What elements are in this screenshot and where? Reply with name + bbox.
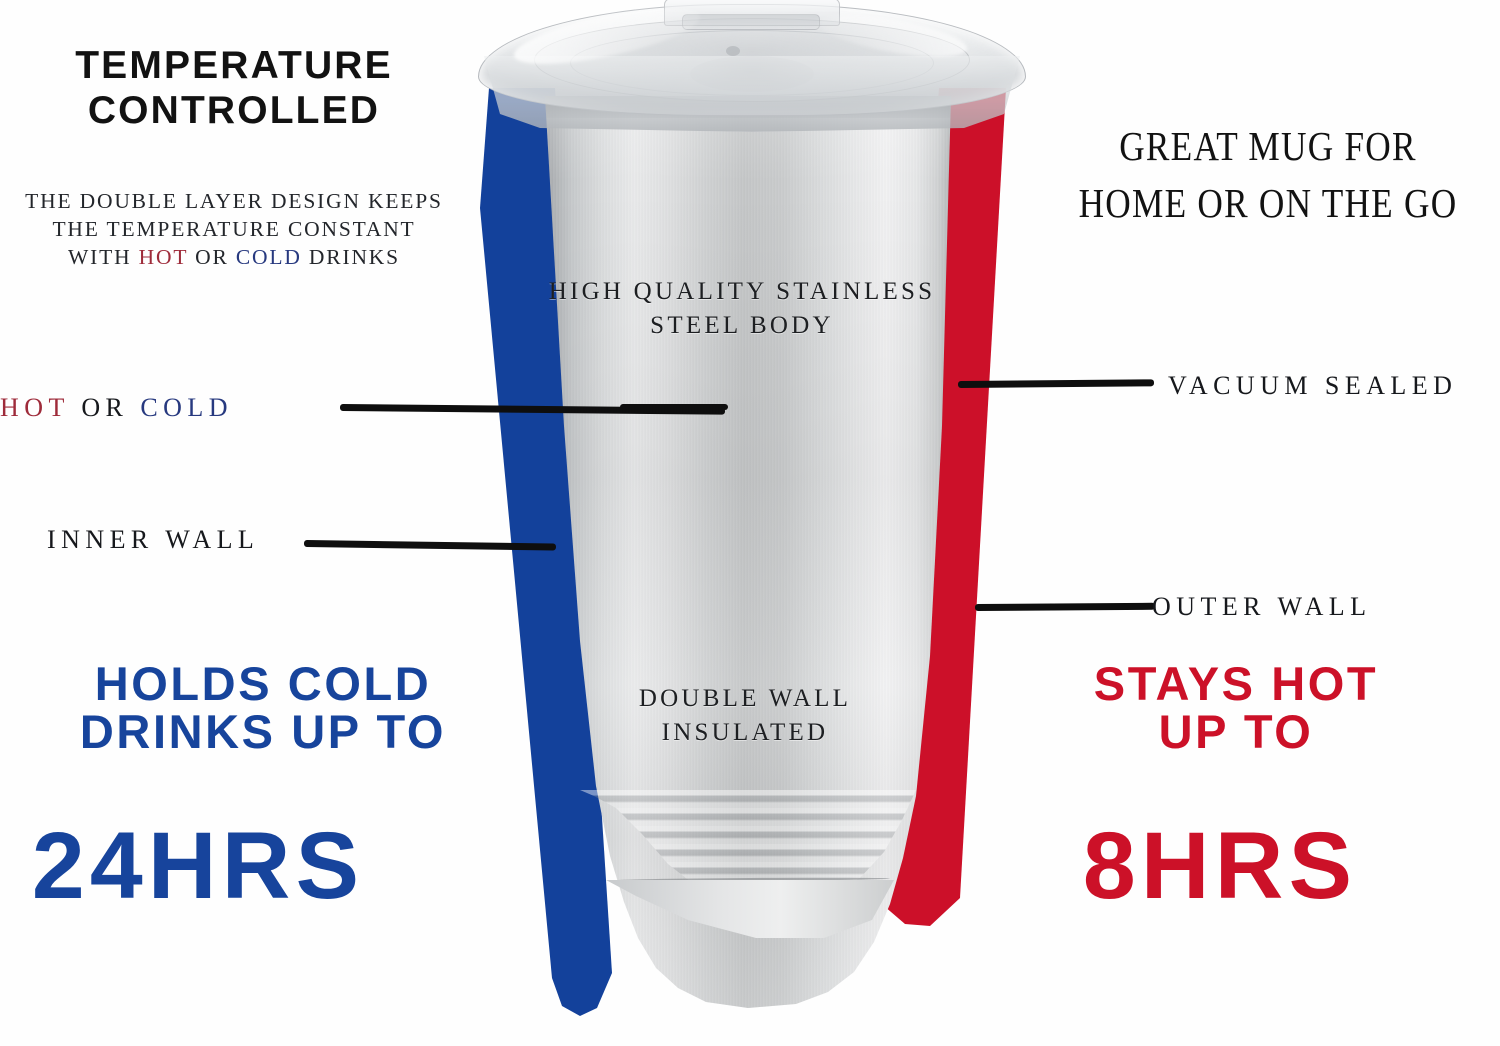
lid-vent-bump — [726, 46, 740, 56]
engraved-double-wall-label: DOUBLE WALL INSULATED — [560, 682, 930, 749]
callout-label-vacuum-sealed: VACUUM SEALED — [1168, 371, 1457, 401]
engraved-stainless-steel-label: HIGH QUALITY STAINLESS STEEL BODY — [532, 275, 952, 342]
callout-joiner: OR — [69, 393, 140, 422]
callout-stub-stainless-body — [620, 404, 728, 410]
description-cold-word: COLD — [236, 245, 302, 269]
right-heading-great-mug: GREAT MUG FOR HOME OR ON THE GO — [1068, 118, 1467, 233]
lid-drink-slot — [682, 14, 820, 30]
callout-line-vacuum-sealed — [958, 379, 1154, 388]
description-line-2: THE TEMPERATURE CONSTANT — [0, 216, 468, 244]
description-hot-word: HOT — [139, 245, 188, 269]
hot-headline-line-1: STAYS HOT — [1010, 660, 1462, 708]
callout-label-inner-wall: INNER WALL — [47, 525, 259, 555]
callout-label-outer-wall: OUTER WALL — [1152, 592, 1372, 622]
right-heading-line-2: HOME OR ON THE GO — [1068, 175, 1467, 232]
engraved-steel-line-1: HIGH QUALITY STAINLESS — [532, 275, 952, 309]
description-line-3-post: DRINKS — [302, 245, 400, 269]
hot-retention-headline: STAYS HOT UP TO — [1010, 660, 1462, 756]
hot-retention-value: 8HRS — [1050, 818, 1390, 915]
description-line-3: WITH HOT OR COLD DRINKS — [0, 244, 468, 272]
cold-headline-line-1: HOLDS COLD — [18, 660, 508, 708]
description-line-1: THE DOUBLE LAYER DESIGN KEEPS — [0, 188, 468, 216]
left-description-block: THE DOUBLE LAYER DESIGN KEEPS THE TEMPER… — [0, 188, 468, 272]
lid-skirt — [484, 56, 1020, 132]
infographic-canvas: HIGH QUALITY STAINLESS STEEL BODY DOUBLE… — [0, 0, 1500, 1046]
right-heading-line-1: GREAT MUG FOR — [1068, 118, 1467, 175]
description-line-3-mid: OR — [188, 245, 236, 269]
cold-retention-headline: HOLDS COLD DRINKS UP TO — [18, 660, 508, 756]
callout-hot-word: HOT — [0, 393, 69, 422]
callout-label-hot-or-cold: HOT OR COLD — [0, 393, 233, 423]
engraved-insulated-line-1: DOUBLE WALL — [560, 682, 930, 716]
description-line-3-pre: WITH — [68, 245, 139, 269]
tumbler-product-image — [460, 0, 1040, 1046]
callout-cold-word: COLD — [140, 393, 233, 422]
left-heading-temperature-controlled: TEMPERATURE CONTROLLED — [34, 43, 434, 133]
clear-slider-lid — [478, 0, 1026, 132]
cold-retention-value: 24HRS — [18, 818, 378, 915]
cold-headline-line-2: DRINKS UP TO — [18, 708, 508, 756]
hot-headline-line-2: UP TO — [1010, 708, 1462, 756]
engraved-steel-line-2: STEEL BODY — [532, 309, 952, 343]
engraved-insulated-line-2: INSULATED — [560, 716, 930, 750]
callout-line-outer-wall — [975, 603, 1155, 611]
